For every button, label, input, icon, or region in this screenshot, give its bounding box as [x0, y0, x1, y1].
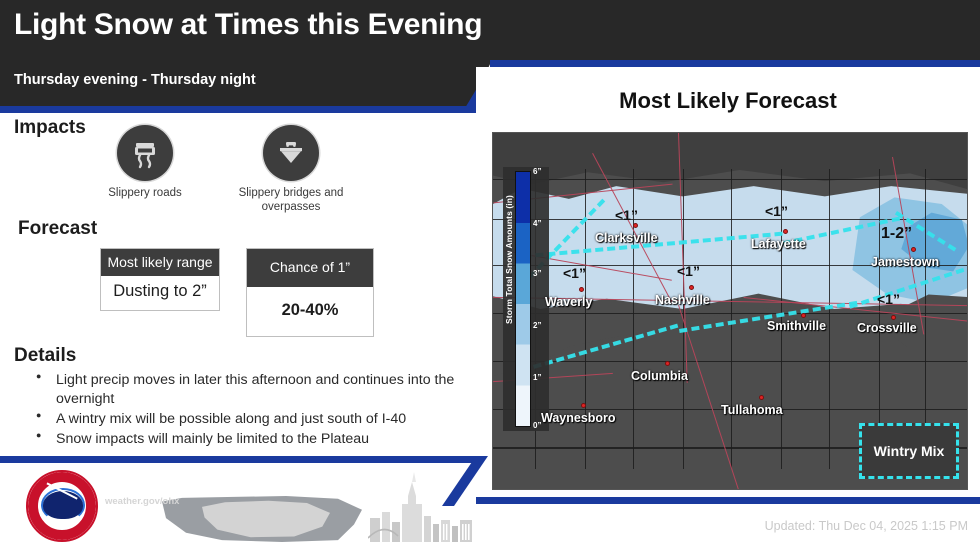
city-dot: [911, 247, 916, 252]
forecast-box-value: 20-40%: [247, 287, 373, 337]
office-website[interactable]: weather.gov/ohx: [105, 496, 179, 507]
colorbar-tick: 3”: [533, 269, 541, 278]
city-label-tullahoma: Tullahoma: [721, 403, 783, 417]
header-subtitle: Thursday evening - Thursday night: [14, 72, 256, 88]
city-dot: [579, 287, 584, 292]
city-label-crossville: Crossville: [857, 321, 917, 335]
forecast-box-value: Dusting to 2”: [101, 276, 219, 311]
snow-amount-label: <1”: [563, 265, 586, 281]
list-item: Snow impacts will mainly be limited to t…: [34, 430, 474, 449]
updated-timestamp: Updated: Thu Dec 04, 2025 1:15 PM: [0, 519, 968, 533]
slippery-road-icon: [117, 125, 173, 181]
forecast-box-most-likely-range: Most likely range Dusting to 2”: [100, 248, 220, 311]
footer-accent-rule-right: [476, 497, 980, 504]
snow-amount-label: <1”: [877, 291, 900, 307]
city-dot: [665, 361, 670, 366]
map-title: Most Likely Forecast: [476, 88, 980, 114]
header-accent-rule: [0, 106, 476, 113]
list-item: A wintry mix will be possible along and …: [34, 410, 474, 429]
city-dot: [891, 315, 896, 320]
details-bullet-list: Light precip moves in later this afterno…: [34, 371, 474, 450]
city-label-jamestown: Jamestown: [871, 255, 939, 269]
city-label-waverly: Waverly: [545, 295, 592, 309]
county-boundary: [731, 169, 732, 469]
page-title: Light Snow at Times this Evening: [14, 8, 482, 42]
city-label-waynesboro: Waynesboro: [541, 411, 616, 425]
city-label-smithville: Smithville: [767, 319, 826, 333]
snow-amount-label: 1-2”: [881, 225, 912, 243]
wintry-mix-legend: Wintry Mix: [859, 423, 959, 479]
forecast-snow-map[interactable]: Storm Total Snow Amounts (in) 6” 4” 3” 2…: [492, 132, 968, 490]
colorbar-tick: 1”: [533, 373, 541, 382]
impact-label: Slippery bridges and overpasses: [235, 187, 347, 214]
city-label-nashville: Nashville: [655, 293, 710, 307]
city-label-lafayette: Lafayette: [751, 237, 806, 251]
city-label-clarksville: Clarksville: [595, 231, 658, 245]
left-content-panel: Impacts Slippery roads: [0, 113, 476, 456]
office-name: National Weather Service · Nashville, TN: [105, 477, 402, 495]
city-dot: [759, 395, 764, 400]
county-boundary: [829, 169, 830, 469]
seal-cloud: [43, 491, 83, 519]
snow-amount-label: <1”: [765, 203, 788, 219]
colorbar-gradient: [515, 171, 531, 427]
colorbar-tick: 2”: [533, 321, 541, 330]
slippery-bridge-icon: [263, 125, 319, 181]
weather-briefing-graphic: Light Snow at Times this Evening Thursda…: [0, 0, 980, 551]
impact-slippery-bridges: Slippery bridges and overpasses: [235, 125, 347, 214]
city-dot: [801, 313, 806, 318]
city-dot: [633, 223, 638, 228]
forecast-box-header: Most likely range: [101, 249, 219, 276]
impacts-heading: Impacts: [14, 117, 86, 139]
city-dot: [689, 285, 694, 290]
snow-amount-label: <1”: [615, 207, 638, 223]
list-item: Light precip moves in later this afterno…: [34, 371, 474, 409]
forecast-box-chance-of-one-inch: Chance of 1” 20-40%: [246, 248, 374, 337]
colorbar-tick: 6”: [533, 167, 541, 176]
forecast-heading: Forecast: [18, 218, 97, 240]
impact-label: Slippery roads: [105, 187, 185, 201]
city-label-columbia: Columbia: [631, 369, 688, 383]
impact-slippery-roads: Slippery roads: [105, 125, 185, 201]
city-dot: [581, 403, 586, 408]
right-panel-top-rule: [490, 60, 980, 67]
colorbar-tick: 4”: [533, 219, 541, 228]
details-heading: Details: [14, 345, 76, 367]
footer-accent-rule: [0, 456, 476, 463]
city-dot: [783, 229, 788, 234]
forecast-box-header: Chance of 1”: [247, 249, 373, 287]
snow-amount-label: <1”: [677, 263, 700, 279]
colorbar-title: Storm Total Snow Amounts (in): [504, 195, 516, 324]
